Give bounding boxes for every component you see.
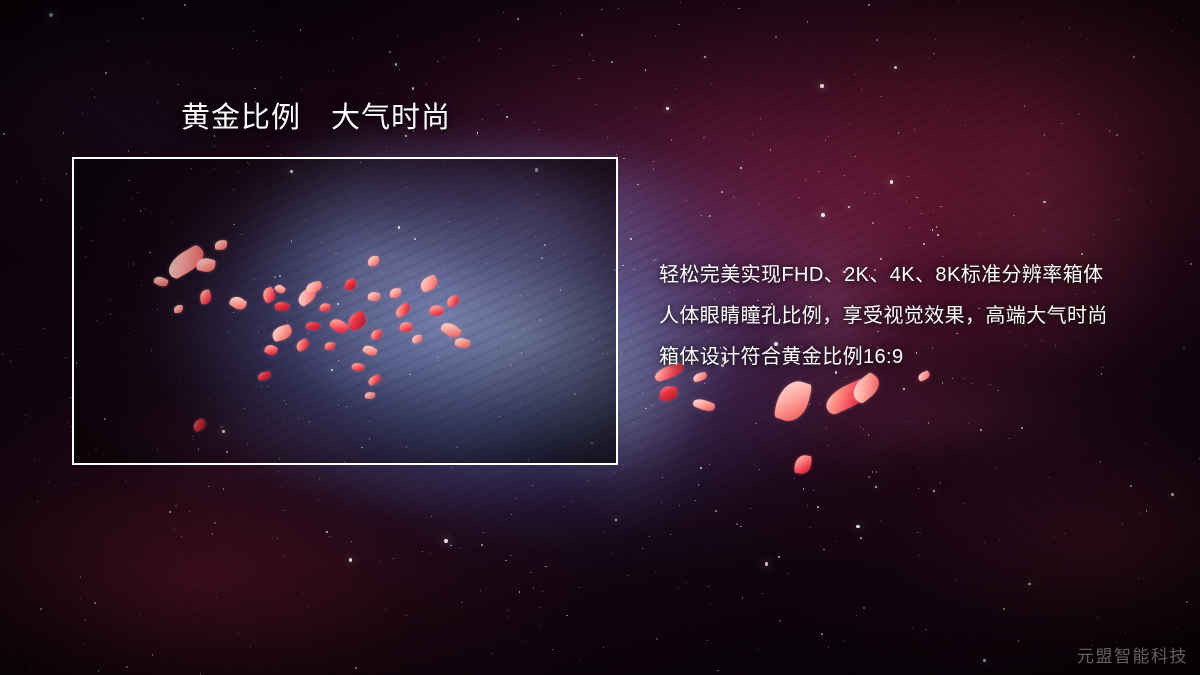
rose-petal	[428, 303, 445, 319]
rose-petal	[418, 274, 440, 293]
rose-petal	[191, 417, 207, 432]
rose-petal	[274, 283, 287, 296]
rose-petal	[328, 316, 350, 337]
description-line-1: 轻松完美实现FHD、2K、4K、8K标准分辨率箱体	[659, 255, 1159, 296]
framed-image-content	[72, 157, 618, 465]
rose-petal	[174, 305, 183, 313]
rose-petal	[351, 361, 365, 373]
rose-petal	[439, 319, 462, 340]
rose-petal	[370, 329, 383, 340]
rose-petal	[362, 343, 379, 358]
rose-petal	[390, 287, 402, 298]
rose-petal	[394, 302, 413, 319]
page-title: 黄金比例 大气时尚	[181, 100, 451, 136]
rose-petal	[261, 286, 277, 303]
rose-petal	[228, 293, 248, 312]
rose-petal	[793, 454, 812, 475]
rose-petal	[368, 256, 379, 266]
rose-petal	[305, 321, 320, 332]
rose-petal	[659, 385, 678, 402]
presentation-slide: 黄金比例 大气时尚 轻松完美实现FHD、2K、4K、8K标准分辨率箱体 人体眼睛…	[0, 0, 1200, 675]
rose-petal	[305, 281, 322, 294]
rose-petal	[822, 378, 873, 417]
rose-petal	[295, 286, 319, 308]
rose-petal	[274, 300, 290, 313]
rose-petal	[772, 376, 814, 425]
rose-petal	[199, 289, 212, 304]
rose-petal	[367, 291, 381, 303]
framed-galaxy-image[interactable]	[72, 157, 618, 465]
watermark-logo-text: 元盟智能科技	[1077, 642, 1188, 667]
rose-petal	[399, 320, 414, 333]
rose-petal	[346, 311, 368, 332]
rose-petal	[215, 239, 228, 250]
rose-petal	[345, 279, 356, 290]
feature-description: 轻松完美实现FHD、2K、4K、8K标准分辨率箱体 人体眼睛瞳孔比例，享受视觉效…	[659, 255, 1159, 378]
rose-petal	[195, 256, 216, 274]
rose-petal	[164, 243, 209, 280]
rose-petal	[324, 341, 335, 350]
rose-petal	[446, 295, 460, 308]
rose-petal	[263, 343, 278, 358]
description-line-2: 人体眼睛瞳孔比例，享受视觉效果，高端大气时尚	[659, 296, 1159, 337]
rose-petal	[692, 396, 716, 414]
rose-petal	[153, 274, 170, 289]
rose-petal	[454, 336, 472, 351]
rose-petal	[294, 338, 310, 353]
rose-petal	[412, 334, 423, 343]
rose-petal	[319, 302, 331, 314]
rose-petal	[364, 391, 375, 400]
rose-petal	[258, 371, 272, 381]
description-line-3: 箱体设计符合黄金比例16:9	[659, 337, 1159, 378]
rose-petal	[367, 374, 382, 386]
rose-petal	[271, 324, 294, 342]
